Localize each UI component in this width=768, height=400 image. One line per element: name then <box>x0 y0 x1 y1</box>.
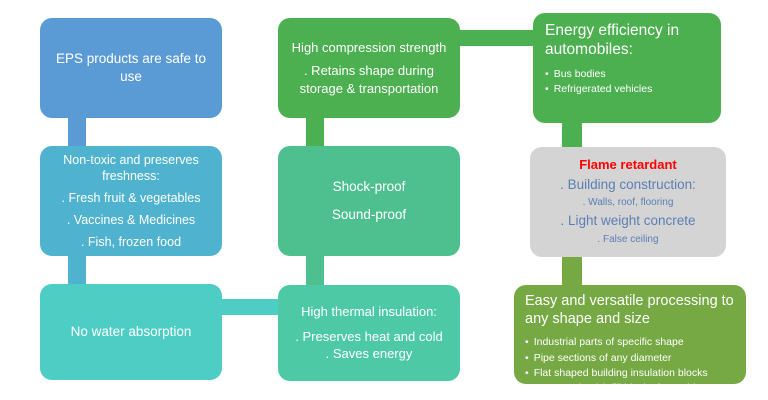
non-toxic-line-1: Non-toxic and preserves <box>50 152 212 169</box>
processing-bullet-3: Flat shaped building insulation blocks <box>525 366 755 381</box>
node-high-thermal-insulation[interactable]: High thermal insulation: . Preserves hea… <box>278 285 460 381</box>
connector-compression-to-shock <box>306 117 324 147</box>
connector-eps-to-nontoxic <box>68 117 86 147</box>
connector-compression-to-energy <box>455 30 535 46</box>
connector-flame-to-processing <box>562 256 582 286</box>
non-toxic-line-2: freshness: <box>50 168 212 185</box>
eps-safe-line-1: EPS products are safe to <box>50 50 212 68</box>
node-easy-versatile-processing[interactable]: Easy and versatile processing to any sha… <box>514 285 746 384</box>
thermal-line-2: . Preserves heat and cold <box>288 328 450 345</box>
node-non-toxic-preserves-freshness[interactable]: Non-toxic and preserves freshness: . Fre… <box>40 146 222 256</box>
connector-shock-to-thermal <box>306 256 324 286</box>
compression-line-3: storage & transportation <box>288 80 450 97</box>
energy-bullet-1: Bus bodies <box>545 67 652 82</box>
flame-line-walls-roof-flooring: . Walls, roof, flooring <box>583 195 674 211</box>
flame-line-false-ceiling: . False ceiling <box>597 232 658 248</box>
processing-bullet-1: Industrial parts of specific shape <box>525 335 755 350</box>
eps-safe-line-2: use <box>50 68 212 86</box>
thermal-line-3: . Saves energy <box>288 345 450 362</box>
processing-title: Easy and versatile processing to any sha… <box>525 293 735 328</box>
shock-line-2: Sound-proof <box>288 206 450 224</box>
node-high-compression-strength[interactable]: High compression strength . Retains shap… <box>278 18 460 118</box>
compression-line-1: High compression strength <box>288 39 450 56</box>
non-toxic-line-4: . Vaccines & Medicines <box>50 212 212 229</box>
energy-bullet-list: Bus bodies Refrigerated vehicles <box>545 67 652 97</box>
connector-nontoxic-to-nowater <box>68 255 86 285</box>
energy-bullet-2: Refrigerated vehicles <box>545 82 652 97</box>
connector-energy-to-flame <box>562 122 582 148</box>
non-toxic-line-3: . Fresh fruit & vegetables <box>50 190 212 207</box>
flame-line-building-construction: . Building construction: <box>560 175 696 195</box>
compression-line-2: . Retains shape during <box>288 62 450 79</box>
no-water-line-1: No water absorption <box>50 323 212 341</box>
processing-bullet-4: Large and quick fill blocks for rapid co… <box>525 381 755 396</box>
processing-bullet-2: Pipe sections of any diameter <box>525 351 755 366</box>
node-eps-products-safe[interactable]: EPS products are safe to use <box>40 18 222 118</box>
flowchart-canvas: EPS products are safe to use Non-toxic a… <box>0 0 768 400</box>
non-toxic-line-5: . Fish, frozen food <box>50 234 212 251</box>
node-no-water-absorption[interactable]: No water absorption <box>40 284 222 380</box>
thermal-line-1: High thermal insulation: <box>288 303 450 320</box>
flame-retardant-title: Flame retardant <box>579 156 677 175</box>
node-flame-retardant[interactable]: Flame retardant . Building construction:… <box>530 147 726 257</box>
processing-bullet-list: Industrial parts of specific shape Pipe … <box>525 335 755 396</box>
flame-line-light-weight-concrete: . Light weight concrete <box>560 211 695 231</box>
energy-title: Energy efficiency in automobiles: <box>545 22 709 60</box>
node-shock-proof-sound-proof[interactable]: Shock-proof Sound-proof <box>278 146 460 256</box>
shock-line-1: Shock-proof <box>288 178 450 196</box>
node-energy-efficiency-automobiles[interactable]: Energy efficiency in automobiles: Bus bo… <box>533 13 721 123</box>
